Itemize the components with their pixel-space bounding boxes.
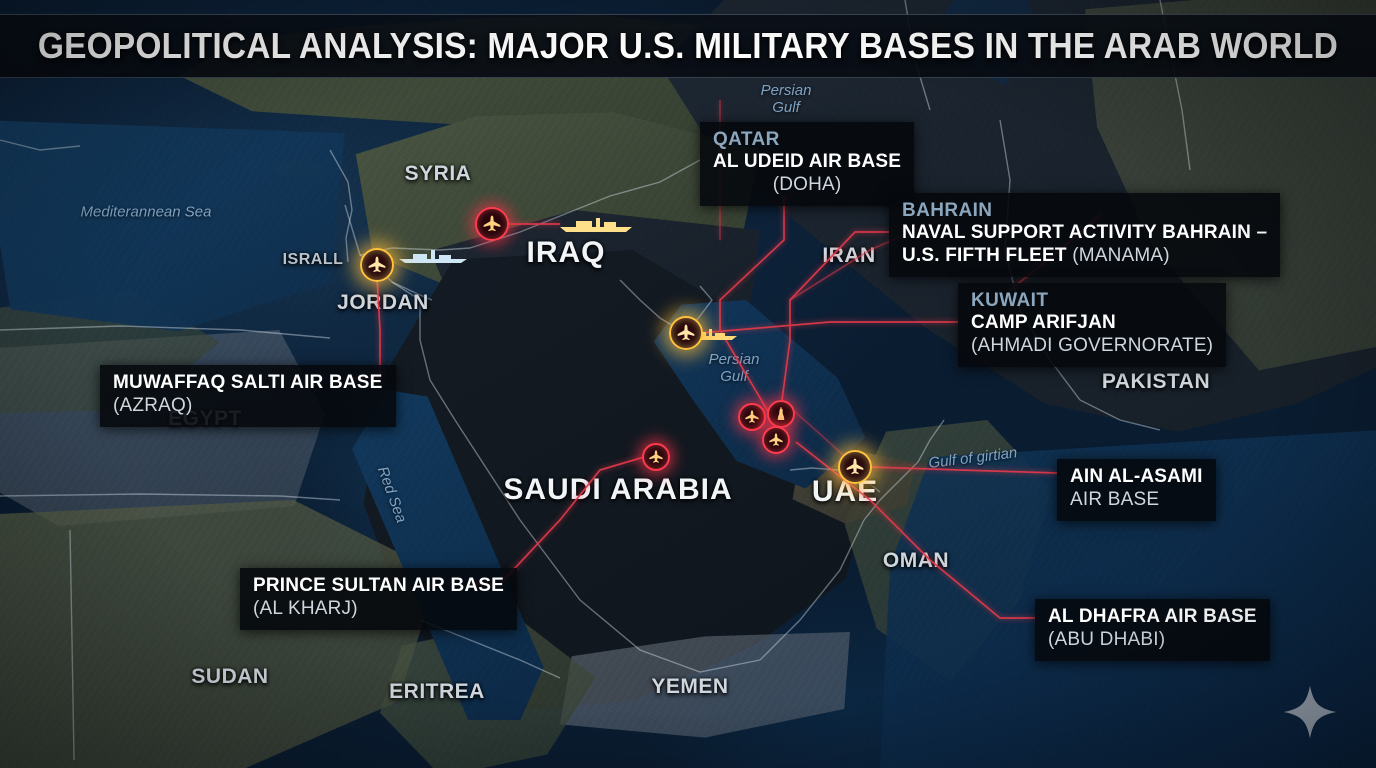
aircraft-icon	[768, 432, 784, 448]
callout-base-qatar: AL UDEID AIR BASE	[713, 151, 901, 174]
aircraft-icon	[482, 214, 502, 234]
callout-ain-al-asami[interactable]: AIN AL-ASAMI AIR BASE	[1057, 459, 1216, 521]
callout-base-prince-sultan: PRINCE SULTAN AIR BASE	[253, 575, 504, 598]
aircraft-icon	[845, 457, 865, 477]
callout-muwaffaq-salti[interactable]: MUWAFFAQ SALTI AIR BASE (AZRAQ)	[100, 365, 396, 427]
naval-tower-icon	[773, 406, 789, 422]
callout-base-ain-al-asami: AIN AL-ASAMI	[1070, 466, 1203, 489]
aircraft-icon	[367, 255, 387, 275]
base-marker-ain-al-asami[interactable]	[838, 450, 872, 484]
sparkle-star-icon	[1282, 684, 1338, 740]
callout-city-ain-al-asami: AIR BASE	[1070, 489, 1203, 512]
callout-city-prince-sultan: (AL KHARJ)	[253, 598, 504, 621]
callout-prince-sultan[interactable]: PRINCE SULTAN AIR BASE (AL KHARJ)	[240, 568, 517, 630]
callout-city-bahrain: (MANAMA)	[1072, 245, 1170, 266]
callout-country-qatar: QATAR	[713, 129, 901, 151]
callout-qatar[interactable]: QATAR AL UDEID AIR BASE (DOHA)	[700, 122, 914, 206]
callout-bahrain[interactable]: BAHRAIN NAVAL SUPPORT ACTIVITY BAHRAIN –…	[889, 193, 1280, 277]
callout-base-bahrain-line2-text: U.S. FIFTH FLEET	[902, 245, 1067, 266]
callout-al-dhafra[interactable]: AL DHAFRA AIR BASE (ABU DHABI)	[1035, 599, 1270, 661]
base-marker-prince-sultan[interactable]	[642, 443, 670, 471]
callout-city-kuwait: (AHMADI GOVERNORATE)	[971, 335, 1213, 358]
page-title: GEOPOLITICAL ANALYSIS: MAJOR U.S. MILITA…	[38, 25, 1338, 67]
callout-base-muwaffaq-salti: MUWAFFAQ SALTI AIR BASE	[113, 372, 383, 395]
map-graphic: PersianGulf Mediterannean Sea PersianGul…	[0, 0, 1376, 768]
base-marker-camp-arifjan[interactable]	[669, 316, 703, 350]
title-banner: GEOPOLITICAL ANALYSIS: MAJOR U.S. MILITA…	[0, 14, 1376, 78]
callout-city-al-dhafra: (ABU DHABI)	[1048, 629, 1257, 652]
aircraft-icon	[676, 323, 696, 343]
callout-base-bahrain-line1: NAVAL SUPPORT ACTIVITY BAHRAIN –	[902, 222, 1267, 245]
callout-country-bahrain: BAHRAIN	[902, 200, 1267, 222]
base-marker-iraq[interactable]	[475, 207, 509, 241]
callout-city-qatar: (DOHA)	[713, 174, 901, 197]
aircraft-icon	[648, 449, 664, 465]
callout-base-al-dhafra: AL DHAFRA AIR BASE	[1048, 606, 1257, 629]
base-marker-bahrain-fifth-fleet[interactable]	[767, 400, 795, 428]
callout-kuwait[interactable]: KUWAIT CAMP ARIFJAN (AHMADI GOVERNORATE)	[958, 283, 1226, 367]
aircraft-icon	[744, 409, 760, 425]
base-marker-qatar-al-udeid[interactable]	[738, 403, 766, 431]
base-marker-al-dhafra[interactable]	[762, 426, 790, 454]
callout-country-kuwait: KUWAIT	[971, 290, 1213, 312]
callout-base-bahrain-line2: U.S. FIFTH FLEET (MANAMA)	[902, 245, 1267, 268]
base-marker-muwaffaq-salti[interactable]	[360, 248, 394, 282]
callout-base-kuwait: CAMP ARIFJAN	[971, 312, 1213, 335]
callout-city-muwaffaq-salti: (AZRAQ)	[113, 395, 383, 418]
